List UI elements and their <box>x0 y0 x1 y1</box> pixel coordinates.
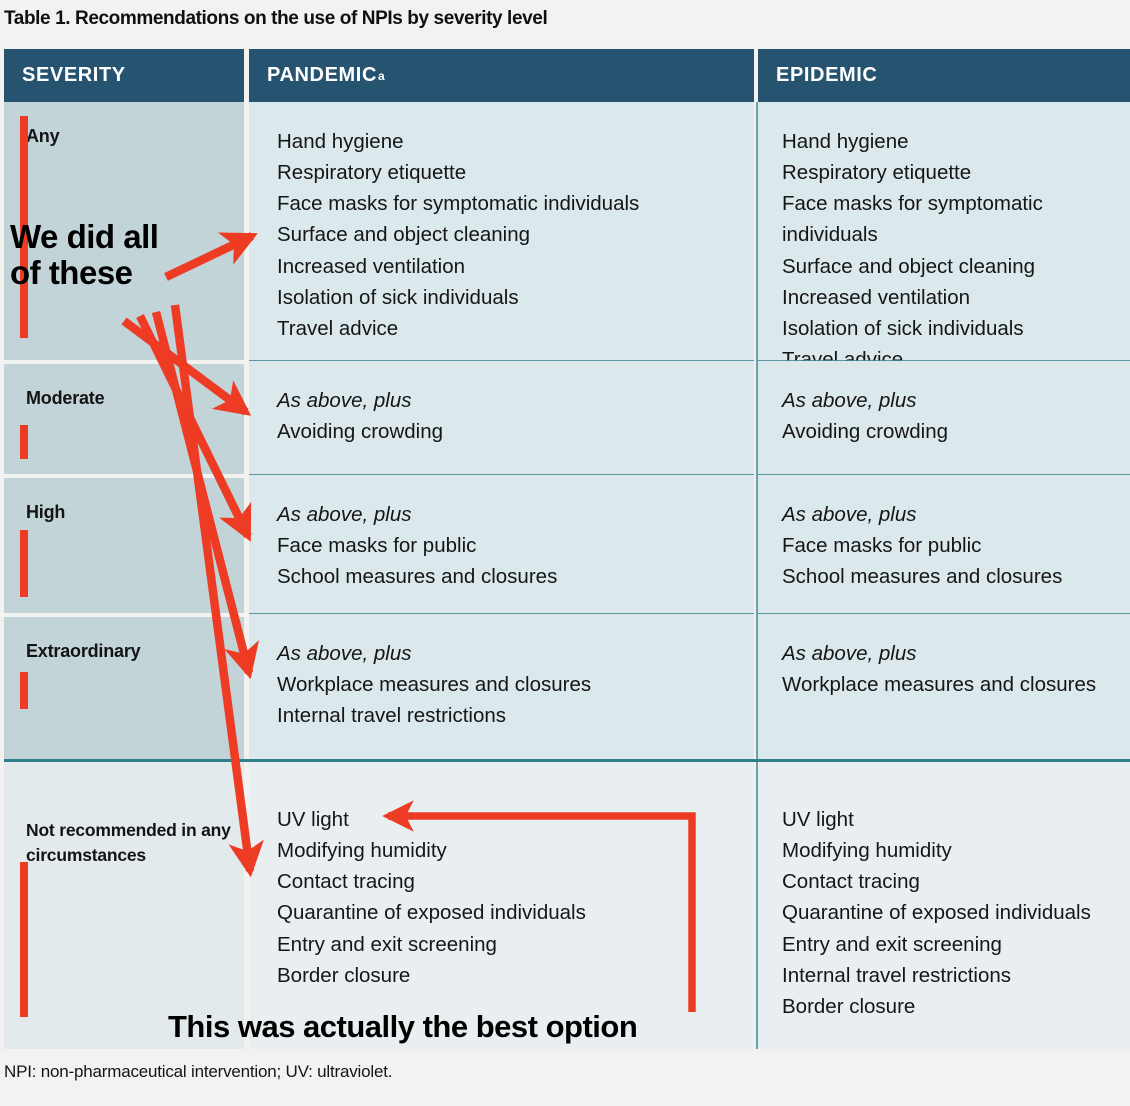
red-marker-bar <box>20 425 28 459</box>
severity-cell-not-recommended: Not recommended in any circumstances <box>4 762 244 1049</box>
npi-item: School measures and closures <box>782 561 1112 592</box>
pandemic-cell-high: As above, plus Face masks for public Sch… <box>249 475 754 613</box>
npi-item: Internal travel restrictions <box>277 700 742 731</box>
npi-item: Avoiding crowding <box>782 416 1112 447</box>
npi-item: Increased ventilation <box>782 282 1112 313</box>
npi-item: Isolation of sick individuals <box>782 313 1112 344</box>
npi-item: Face masks for public <box>782 530 1112 561</box>
npi-item: Contact tracing <box>782 866 1112 897</box>
footnote-marker-a: a <box>378 69 385 83</box>
npi-item: Surface and object cleaning <box>782 251 1112 282</box>
npi-item: Contact tracing <box>277 866 742 897</box>
column-header-severity-label: SEVERITY <box>4 64 126 87</box>
npi-item: Face masks for public <box>277 530 742 561</box>
npi-item: Internal travel restrictions <box>782 960 1112 991</box>
column-header-epidemic: EPIDEMIC <box>758 49 1130 102</box>
annotation-best-option: This was actually the best option <box>168 1010 637 1043</box>
npi-item: Modifying humidity <box>782 835 1112 866</box>
annotation-we-did-all: We did all of these <box>10 219 240 290</box>
severity-label-moderate: Moderate <box>26 388 104 408</box>
epidemic-cell-not-recommended: UV light Modifying humidity Contact trac… <box>758 762 1130 1049</box>
table-header-row: SEVERITY PANDEMICa EPIDEMIC <box>4 49 1130 102</box>
annotation-we-did-all-line1: We did all <box>10 219 240 255</box>
column-header-pandemic-label: PANDEMIC <box>249 64 377 87</box>
npi-item: Surface and object cleaning <box>277 219 742 250</box>
npi-item: Hand hygiene <box>782 126 1112 157</box>
severity-cell-extraordinary: Extraordinary <box>4 617 244 759</box>
epidemic-cell-extraordinary: As above, plus Workplace measures and cl… <box>758 614 1130 759</box>
epidemic-cell-high: As above, plus Face masks for public Sch… <box>758 475 1130 613</box>
as-above-plus: As above, plus <box>277 385 742 416</box>
red-marker-bar <box>20 530 28 597</box>
table-caption: Table 1. Recommendations on the use of N… <box>4 8 547 30</box>
column-header-epidemic-label: EPIDEMIC <box>758 64 877 87</box>
table-footnote: NPI: non-pharmaceutical intervention; UV… <box>4 1062 392 1082</box>
epidemic-cell-moderate: As above, plus Avoiding crowding <box>758 361 1130 474</box>
column-header-severity: SEVERITY <box>4 49 244 102</box>
as-above-plus: As above, plus <box>277 638 742 669</box>
npi-item: Travel advice <box>277 313 742 344</box>
npi-item: Quarantine of exposed individuals <box>277 897 742 928</box>
annotation-we-did-all-line2: of these <box>10 255 240 291</box>
npi-item: UV light <box>277 804 742 835</box>
recommendations-table: SEVERITY PANDEMICa EPIDEMIC Any Hand hyg… <box>4 49 1130 1049</box>
severity-cell-moderate: Moderate <box>4 364 244 474</box>
as-above-plus: As above, plus <box>782 638 1112 669</box>
pandemic-cell-extraordinary: As above, plus Workplace measures and cl… <box>249 614 754 759</box>
npi-item: Isolation of sick individuals <box>277 282 742 313</box>
npi-item: Respiratory etiquette <box>782 157 1112 188</box>
pandemic-cell-not-recommended: UV light Modifying humidity Contact trac… <box>249 762 754 1049</box>
as-above-plus: As above, plus <box>782 385 1112 416</box>
npi-item: Quarantine of exposed individuals <box>782 897 1112 928</box>
npi-item: Respiratory etiquette <box>277 157 742 188</box>
npi-item: UV light <box>782 804 1112 835</box>
npi-item: Avoiding crowding <box>277 416 742 447</box>
table-figure: Table 1. Recommendations on the use of N… <box>0 0 1130 1106</box>
npi-item: Face masks for symptomatic individuals <box>277 188 742 219</box>
severity-cell-high: High <box>4 478 244 613</box>
npi-item: Entry and exit screening <box>782 929 1112 960</box>
column-header-pandemic: PANDEMICa <box>249 49 754 102</box>
npi-item: Workplace measures and closures <box>277 669 742 700</box>
red-marker-bar <box>20 672 28 709</box>
as-above-plus: As above, plus <box>277 499 742 530</box>
pandemic-cell-any: Hand hygiene Respiratory etiquette Face … <box>249 102 754 360</box>
npi-item: Modifying humidity <box>277 835 742 866</box>
severity-label-not-recommended: Not recommended in any circumstances <box>26 820 231 865</box>
npi-item: Entry and exit screening <box>277 929 742 960</box>
severity-label-any: Any <box>26 126 59 146</box>
npi-item: Workplace measures and closures <box>782 669 1112 700</box>
npi-item: Border closure <box>277 960 742 991</box>
pandemic-cell-moderate: As above, plus Avoiding crowding <box>249 361 754 474</box>
npi-item: Face masks for symptomatic individuals <box>782 188 1112 250</box>
npi-item: Increased ventilation <box>277 251 742 282</box>
as-above-plus: As above, plus <box>782 499 1112 530</box>
severity-label-extraordinary: Extraordinary <box>26 641 140 661</box>
npi-item: School measures and closures <box>277 561 742 592</box>
severity-label-high: High <box>26 502 65 522</box>
epidemic-cell-any: Hand hygiene Respiratory etiquette Face … <box>758 102 1130 360</box>
red-marker-bar <box>20 862 28 1017</box>
npi-item: Hand hygiene <box>277 126 742 157</box>
npi-item: Border closure <box>782 991 1112 1022</box>
